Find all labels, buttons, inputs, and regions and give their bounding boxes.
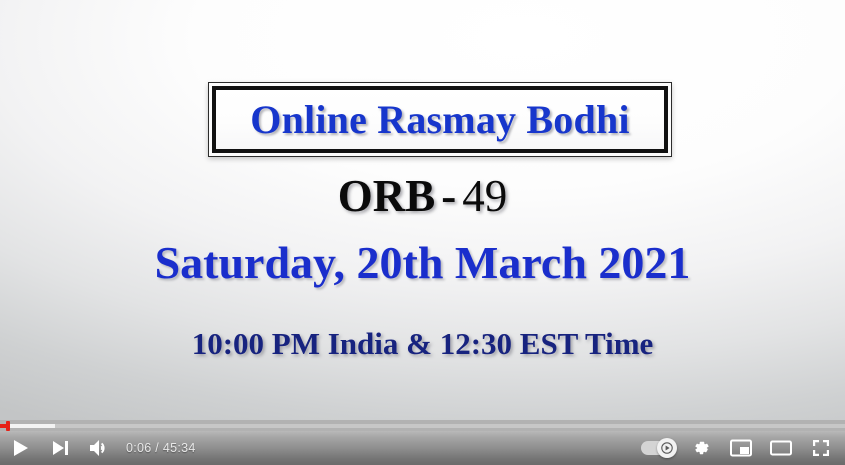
framed-title-inner: Online Rasmay Bodhi <box>212 86 668 153</box>
settings-button[interactable] <box>681 431 721 465</box>
slide-content: Online Rasmay Bodhi ORB-49 Saturday, 20t… <box>0 0 845 465</box>
autoplay-toggle-track <box>641 441 674 455</box>
next-video-button[interactable] <box>40 431 80 465</box>
time-display: 0:06 / 45:34 <box>120 441 204 455</box>
episode-label: ORB <box>338 171 436 221</box>
miniplayer-button[interactable] <box>721 431 761 465</box>
progress-track[interactable] <box>0 424 845 428</box>
next-icon <box>52 440 69 456</box>
episode-separator: - <box>435 171 462 221</box>
controls-right-group <box>633 431 841 465</box>
event-date: Saturday, 20th March 2021 <box>0 238 845 289</box>
video-player[interactable]: Online Rasmay Bodhi ORB-49 Saturday, 20t… <box>0 0 845 465</box>
controls-bar: 0:06 / 45:34 <box>0 431 845 465</box>
volume-icon <box>89 439 111 457</box>
video-surface[interactable]: Online Rasmay Bodhi ORB-49 Saturday, 20t… <box>0 0 845 465</box>
autoplay-toggle-knob <box>657 438 677 458</box>
theater-icon <box>770 439 792 457</box>
gear-icon <box>691 438 711 458</box>
autoplay-toggle[interactable] <box>633 431 681 465</box>
controls-left-group: 0:06 / 45:34 <box>0 431 204 465</box>
player-controls[interactable]: 0:06 / 45:34 <box>0 420 845 465</box>
theater-mode-button[interactable] <box>761 431 801 465</box>
episode-number: 49 <box>462 171 507 221</box>
progress-scrubber-handle[interactable] <box>6 421 10 431</box>
page-title: Online Rasmay Bodhi <box>250 100 629 140</box>
framed-title-box: Online Rasmay Bodhi <box>208 82 672 157</box>
miniplayer-icon <box>730 439 752 457</box>
play-icon <box>12 439 29 457</box>
play-button[interactable] <box>0 431 40 465</box>
progress-bar[interactable] <box>0 420 845 431</box>
event-time: 10:00 PM India & 12:30 EST Time <box>0 327 845 361</box>
fullscreen-button[interactable] <box>801 431 841 465</box>
volume-button[interactable] <box>80 431 120 465</box>
fullscreen-icon <box>811 438 831 458</box>
play-small-icon <box>661 442 673 454</box>
episode-line: ORB-49 <box>0 172 845 222</box>
